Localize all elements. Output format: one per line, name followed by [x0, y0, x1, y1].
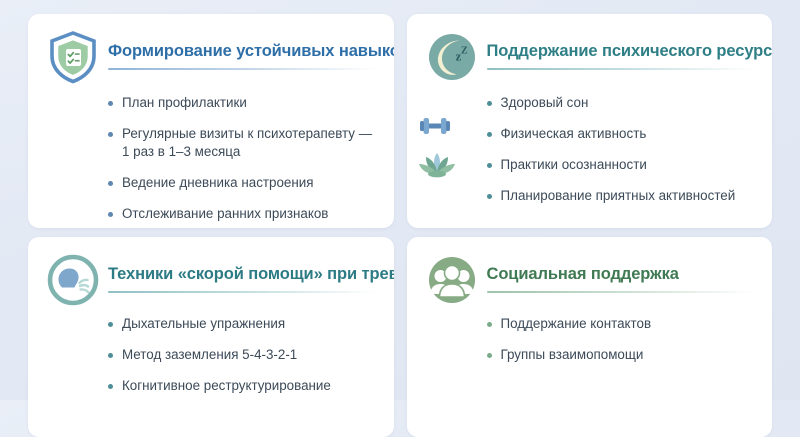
- card-header: Социальная поддержка: [425, 253, 755, 309]
- card-title: Техники «скорой помощи» при тревоге: [108, 265, 376, 284]
- title-column: Формирование устойчивых навыков: [108, 30, 376, 70]
- card-anxiety-first-aid[interactable]: Техники «скорой помощи» при тревоге Дыха…: [28, 237, 394, 437]
- card-title: Поддержание психического ресурса: [487, 42, 755, 61]
- svg-text:Z: Z: [461, 46, 468, 57]
- lotus-flower-icon: [417, 150, 453, 180]
- title-divider: [108, 68, 376, 70]
- list-item: Практики осознанности: [487, 156, 755, 174]
- list-item: Поддержание контактов: [487, 315, 755, 333]
- list-item: Дыхательные упражнения: [108, 315, 376, 333]
- card-mental-resource[interactable]: z Z Поддержание психического ресурса: [407, 14, 773, 228]
- card-list: План профилактики Регулярные визиты к пс…: [108, 94, 376, 228]
- list-item: Планирование приятных активностей: [487, 187, 755, 205]
- list-item: Метод заземления 5-4-3-2-1: [108, 346, 376, 364]
- list-item: Когнитивное реструктурирование: [108, 377, 376, 395]
- card-title: Формирование устойчивых навыков: [108, 42, 376, 61]
- card-header: Техники «скорой помощи» при тревоге: [46, 253, 376, 309]
- head-breathing-icon: [46, 253, 100, 307]
- title-divider: [108, 291, 376, 293]
- title-divider: [487, 291, 755, 293]
- crescent-moon-sleep-icon: z Z: [425, 30, 479, 84]
- list-item: Регулярные визиты к психотерапевту — 1 р…: [108, 125, 376, 161]
- list-item: Физическая активность: [487, 125, 755, 143]
- card-list: Здоровый сон Физическая активность Практ…: [487, 94, 755, 205]
- title-divider: [487, 68, 755, 70]
- card-header: Формирование устойчивых навыков: [46, 30, 376, 86]
- list-item: Отслеживание ранних признаков ухудшения: [108, 205, 376, 228]
- title-column: Социальная поддержка: [487, 253, 755, 293]
- dumbbell-icon: [417, 112, 453, 142]
- title-column: Поддержание психического ресурса: [487, 30, 755, 70]
- shield-checklist-icon: [46, 30, 100, 84]
- card-list: Дыхательные упражнения Метод заземления …: [108, 315, 376, 395]
- card-list: Поддержание контактов Группы взаимопомощ…: [487, 315, 755, 364]
- card-sustainable-skills[interactable]: Формирование устойчивых навыков План про…: [28, 14, 394, 228]
- card-social-support[interactable]: Социальная поддержка Поддержание контакт…: [407, 237, 773, 437]
- list-item: Здоровый сон: [487, 94, 755, 112]
- card-header: z Z Поддержание психического ресурса: [425, 30, 755, 86]
- title-column: Техники «скорой помощи» при тревоге: [108, 253, 376, 293]
- list-item: Группы взаимопомощи: [487, 346, 755, 364]
- card-title: Социальная поддержка: [487, 265, 755, 284]
- cards-board: Формирование устойчивых навыков План про…: [0, 0, 800, 400]
- people-group-icon: [425, 253, 479, 307]
- list-item: Ведение дневника настроения: [108, 174, 376, 192]
- list-item: План профилактики: [108, 94, 376, 112]
